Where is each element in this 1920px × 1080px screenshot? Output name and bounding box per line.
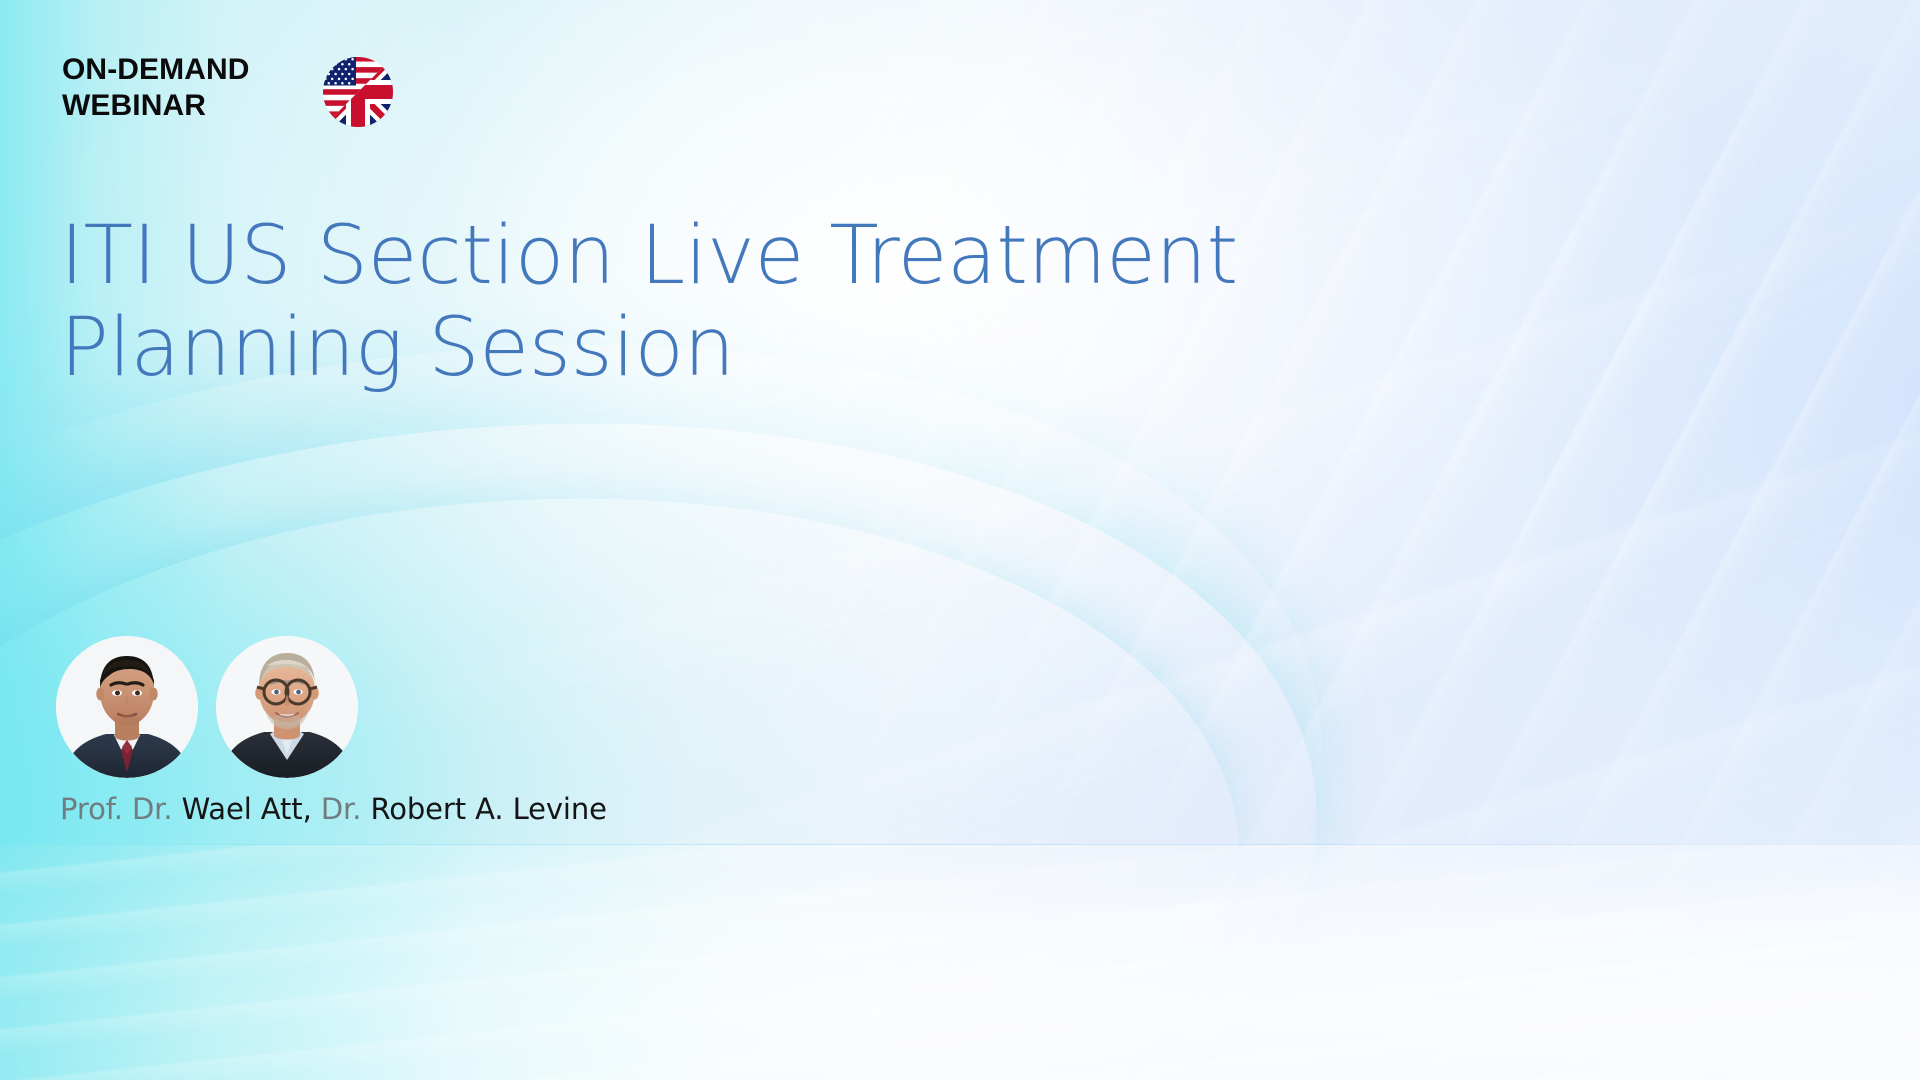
avatar [56,636,198,778]
presenter-separator: , [303,792,321,826]
presenter-title-2: Dr. [321,792,371,826]
avatar [216,636,358,778]
kicker-row: ON-DEMAND WEBINAR [62,52,394,128]
presenter-name-1: Wael Att [182,792,303,826]
presenter-byline: Prof. Dr. Wael Att, Dr. Robert A. Levine [60,791,607,829]
page-title: ITI US Section Live Treatment Planning S… [60,210,1480,395]
webinar-title-slide: ON-DEMAND WEBINAR [0,0,1920,1080]
presenter-title-1: Prof. Dr. [60,792,182,826]
presenter-avatars [56,636,358,778]
us-uk-flag-icon [322,56,394,128]
presenter-name-2: Robert A. Levine [370,792,606,826]
format-label: ON-DEMAND WEBINAR [62,52,250,125]
